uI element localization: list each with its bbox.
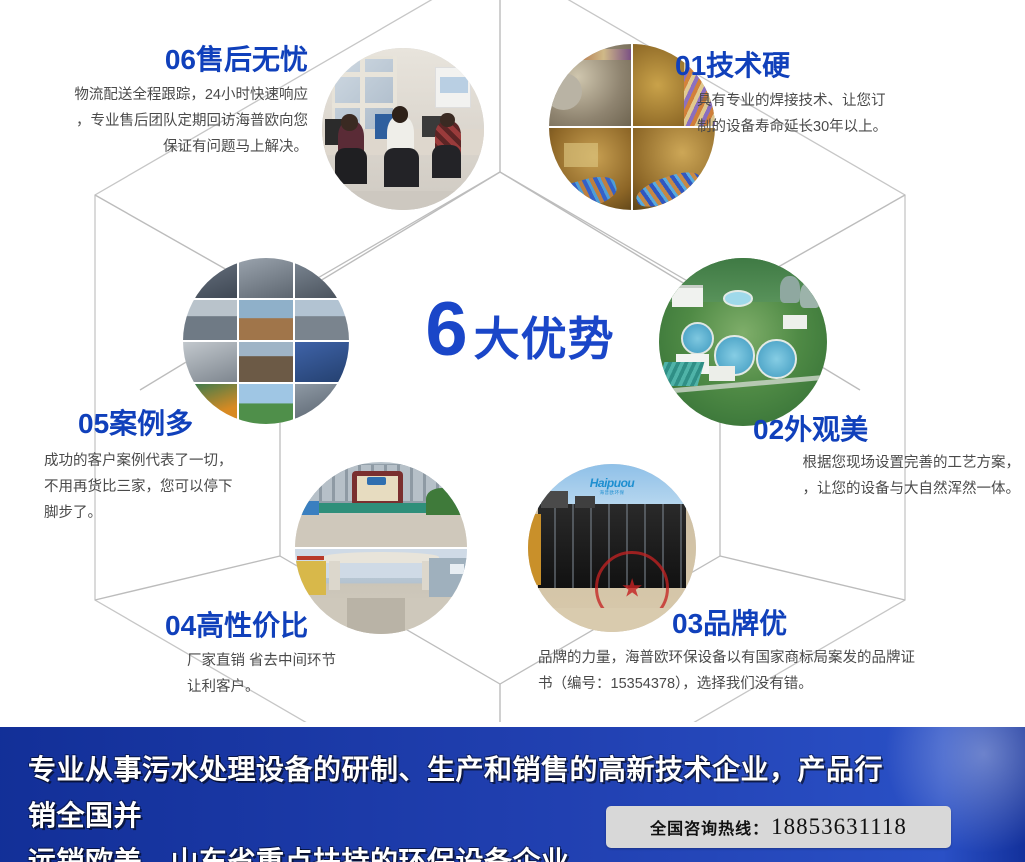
advantage-desc-03: 品牌的力量，海普欧环保设备以有国家商标局案发的品牌证 书（编号：15354378… (538, 645, 1018, 697)
advantage-block-04: 04高性价比 厂家直销 省去中间环节 让利客户。 (165, 610, 465, 700)
advantage-title-01: 01技术硬 (675, 50, 1005, 82)
desc-line: 让利客户。 (187, 674, 465, 700)
brand-logo-subtext: 海普欧环保 (590, 490, 635, 496)
desc-line: 具有专业的焊接技术、让您订 (697, 88, 1005, 114)
desc-line: 保证有问题马上解决。 (8, 134, 308, 160)
desc-line: 脚步了。 (44, 500, 378, 526)
advantage-desc-05: 成功的客户案例代表了一切， 不用再货比三家，您可以停下 脚步了。 (78, 448, 378, 526)
advantage-title-03: 03品牌优 (672, 608, 972, 640)
hotline-number: 18853631118 (771, 814, 907, 840)
desc-line: 制的设备寿命延长30年以上。 (697, 114, 1005, 140)
desc-line: 厂家直销 省去中间环节 (187, 648, 465, 674)
advantage-desc-06: 物流配送全程跟踪，24小时快速响应 ，专业售后团队定期回访海普欧向您 保证有问题… (8, 82, 308, 160)
center-headline: 6 大优势 (380, 292, 660, 382)
photo-circle-02 (659, 258, 827, 426)
advantage-desc-01: 具有专业的焊接技术、让您订 制的设备寿命延长30年以上。 (675, 88, 1005, 140)
infographic-root: Haipuou 海普欧环保 06售后无忧 物流配送全程跟踪，24小时快速响应 ，… (0, 0, 1025, 862)
advantage-block-01: 01技术硬 具有专业的焊接技术、让您订 制的设备寿命延长30年以上。 (675, 50, 1005, 140)
advantage-block-03: 03品牌优 (672, 608, 972, 640)
desc-line: ，让您的设备与大自然浑然一体。 (700, 476, 1020, 502)
desc-line: ，专业售后团队定期回访海普欧向您 (8, 108, 308, 134)
desc-line: 品牌的力量，海普欧环保设备以有国家商标局案发的品牌证 (538, 645, 1018, 671)
photo-circle-06 (322, 48, 484, 210)
advantage-desc-04: 厂家直销 省去中间环节 让利客户。 (165, 648, 465, 700)
center-number: 6 (425, 292, 467, 368)
photo-circle-03: Haipuou 海普欧环保 (528, 464, 696, 632)
advantage-title-02: 02外观美 (753, 414, 1025, 446)
advantage-title-04: 04高性价比 (165, 610, 465, 642)
advantage-title-05: 05案例多 (78, 408, 378, 440)
desc-line: 书（编号：15354378），选择我们没有错。 (538, 671, 1018, 697)
advantage-title-06: 06售后无忧 (8, 44, 308, 76)
advantage-desc-02: 根据您现场设置完善的工艺方案， ，让您的设备与大自然浑然一体。 (700, 450, 1020, 502)
brand-logo-text: Haipuou (590, 476, 635, 490)
desc-line: 不用再货比三家，您可以停下 (44, 474, 378, 500)
hotline-label: 全国咨询热线： (650, 815, 769, 839)
desc-line: 物流配送全程跟踪，24小时快速响应 (8, 82, 308, 108)
brand-logo: Haipuou 海普欧环保 (590, 476, 635, 496)
desc-line: 根据您现场设置完善的工艺方案， (700, 450, 1020, 476)
photo-circle-05 (183, 258, 349, 424)
desc-line: 成功的客户案例代表了一切， (44, 448, 378, 474)
hotline-box[interactable]: 全国咨询热线： 18853631118 (606, 806, 951, 848)
advantage-block-02: 02外观美 (753, 414, 1025, 446)
center-label: 大优势 (474, 311, 615, 367)
advantage-block-05: 05案例多 成功的客户案例代表了一切， 不用再货比三家，您可以停下 脚步了。 (78, 408, 378, 526)
advantage-block-06: 06售后无忧 物流配送全程跟踪，24小时快速响应 ，专业售后团队定期回访海普欧向… (8, 44, 308, 160)
